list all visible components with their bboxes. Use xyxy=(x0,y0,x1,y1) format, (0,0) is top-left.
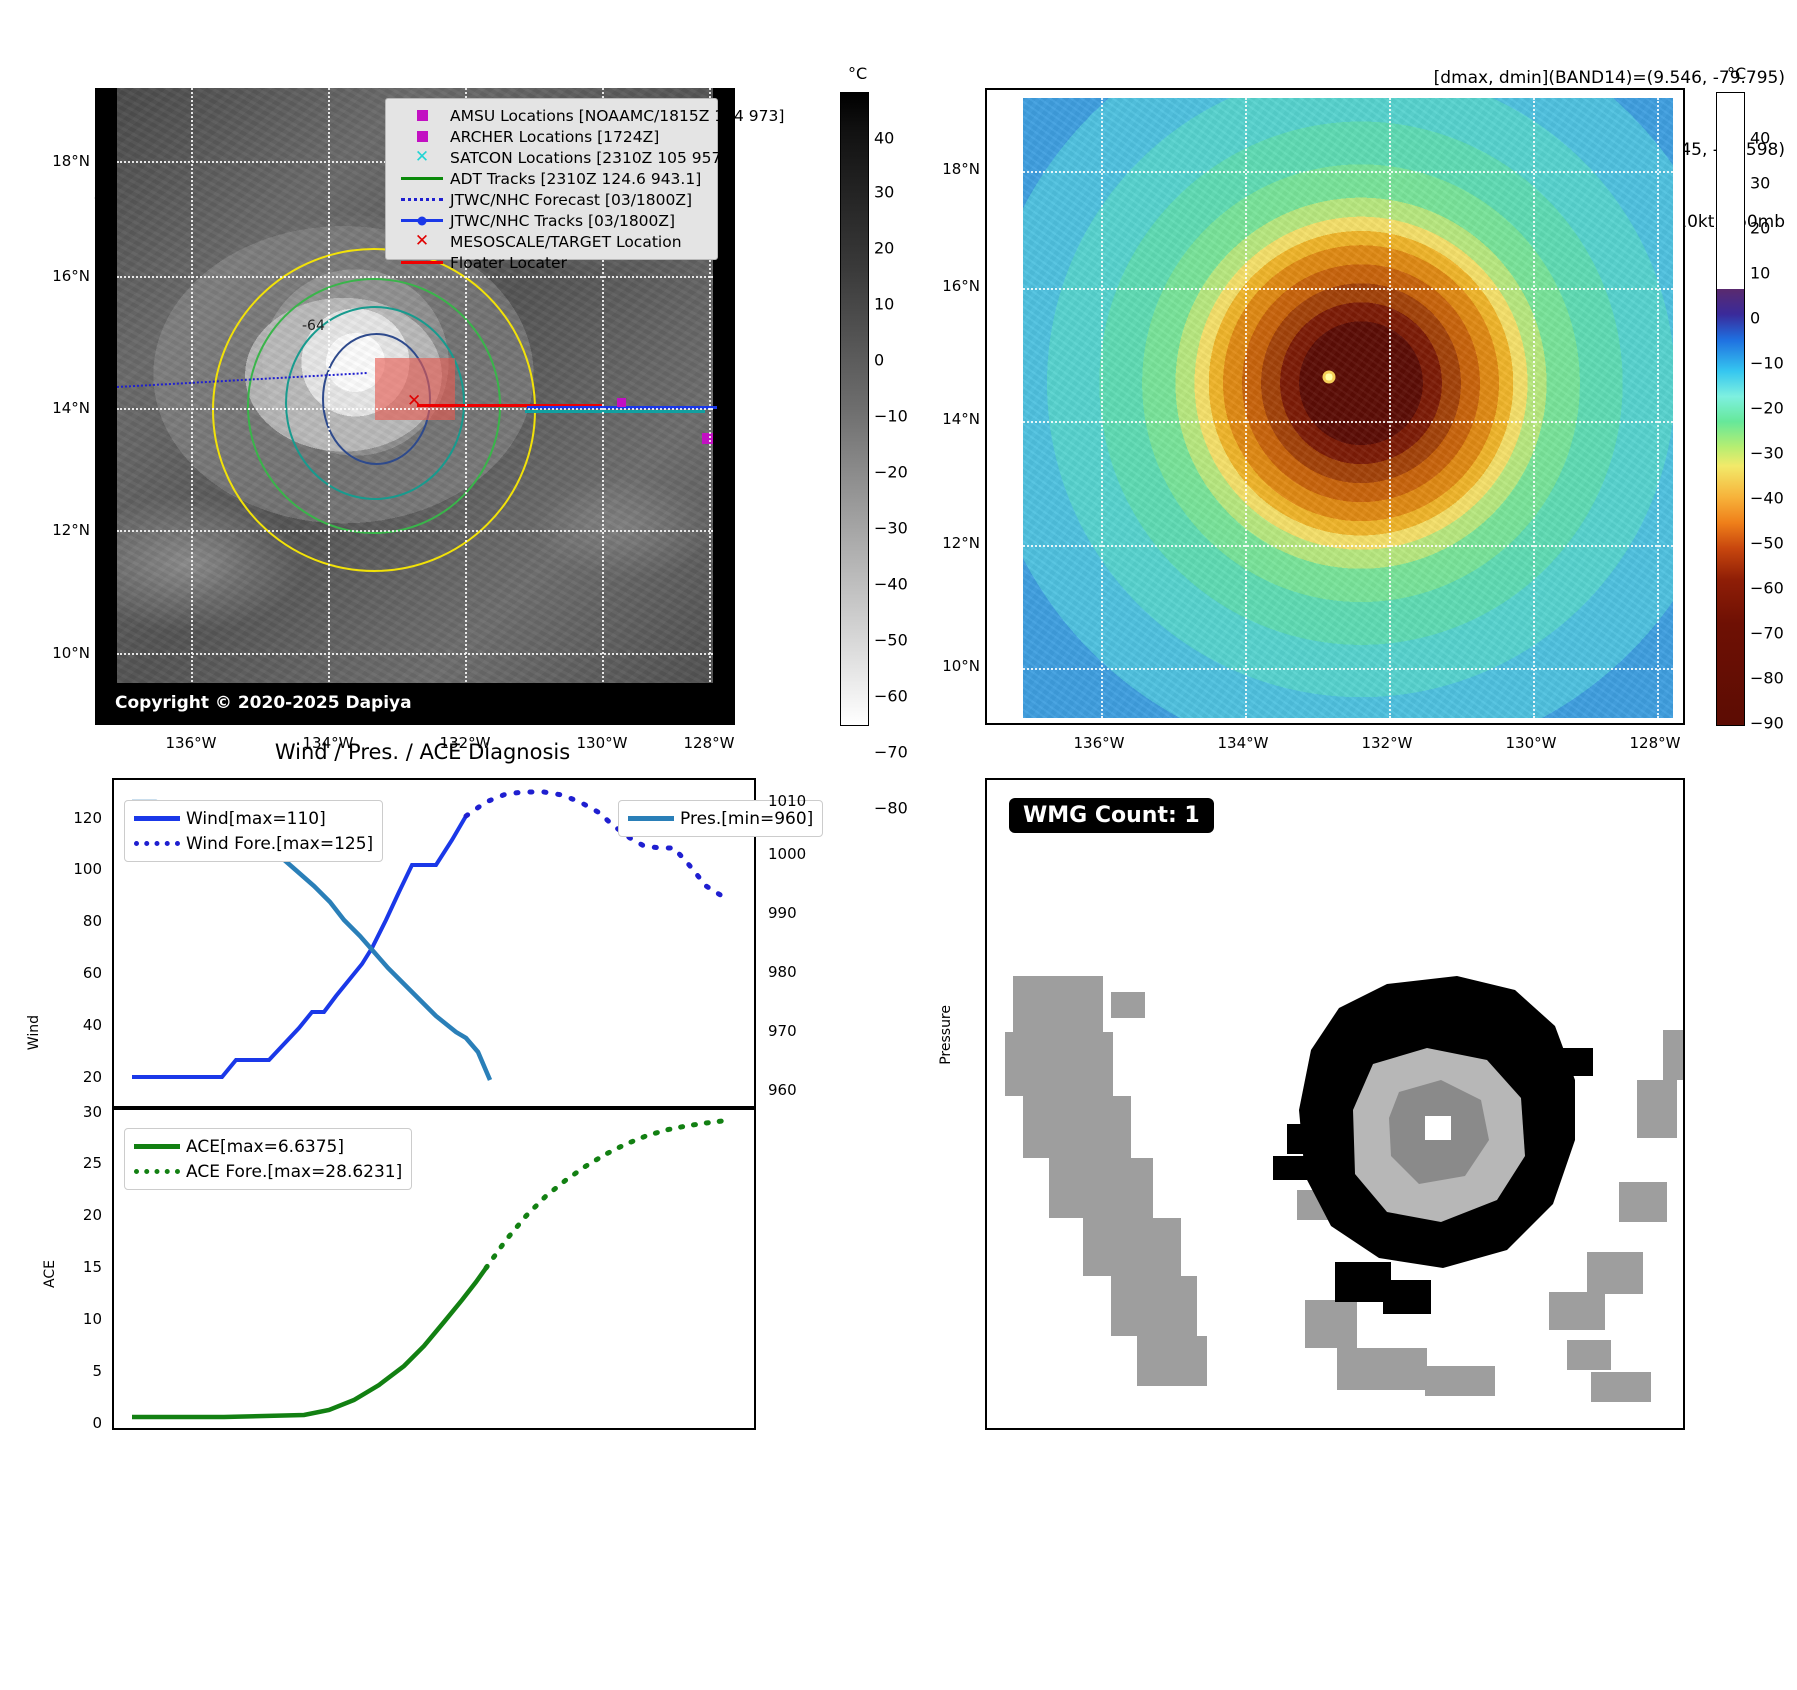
legend-label-ace-forecast: ACE Fore.[max=28.6231] xyxy=(186,1162,402,1182)
archer-square-icon xyxy=(394,126,450,147)
ir-cbar-tick-0: 40 xyxy=(874,129,894,148)
tracks-line-marker-icon xyxy=(394,210,450,231)
awv-grid-lat-10 xyxy=(1023,668,1673,670)
ir-cbar-tick-7: −30 xyxy=(874,519,908,538)
awv-cbar-tick-2: 20 xyxy=(1750,219,1770,238)
wind-chart-legend[interactable]: Wind[max=110] Wind Fore.[max=125] xyxy=(124,800,383,862)
legend-item-ace-forecast[interactable]: ACE Fore.[max=28.6231] xyxy=(134,1159,402,1184)
legend-item-mesoscale[interactable]: ✕ MESOSCALE/TARGET Location xyxy=(394,231,709,252)
awv-colorbar-unit: °C xyxy=(1727,64,1746,83)
awv-lon-tick-2: 132°W xyxy=(1362,734,1413,752)
ir-lat-tick-0: 18°N xyxy=(35,152,90,170)
pressure-y-tick-4: 970 xyxy=(768,1022,797,1040)
ace-forecast-dotted-icon xyxy=(134,1169,186,1174)
grid-lat-14 xyxy=(117,408,713,410)
adt-track-line xyxy=(525,410,705,413)
ir-cbar-tick-11: −70 xyxy=(874,743,908,762)
ace-y-tick-0: 30 xyxy=(52,1103,102,1121)
legend-label-mesoscale: MESOSCALE/TARGET Location xyxy=(450,233,682,251)
legend-item-satcon[interactable]: ✕ SATCON Locations [2310Z 105 957] xyxy=(394,147,709,168)
awv-cbar-tick-11: −70 xyxy=(1750,624,1784,643)
legend-label-ace: ACE[max=6.6375] xyxy=(186,1137,344,1157)
awv-cbar-tick-6: −20 xyxy=(1750,399,1784,418)
legend-item-floater[interactable]: Floater Locater xyxy=(394,252,709,273)
legend-item-adt[interactable]: ADT Tracks [2310Z 124.6 943.1] xyxy=(394,168,709,189)
contour-label--64: -64 xyxy=(302,318,325,334)
amsu-marker xyxy=(702,433,713,444)
ir-lat-tick-1: 16°N xyxy=(35,267,90,285)
ace-forecast-line xyxy=(486,1121,722,1268)
pressure-y-tick-5: 960 xyxy=(768,1081,797,1099)
pressure-axis-label: Pressure xyxy=(938,1005,954,1065)
legend-item-amsu[interactable]: AMSU Locations [NOAAMC/1815Z 104 973] xyxy=(394,105,709,126)
ir-cbar-tick-4: 0 xyxy=(874,351,884,370)
ir-cbar-tick-8: −40 xyxy=(874,575,908,594)
legend-label-adt: ADT Tracks [2310Z 124.6 943.1] xyxy=(450,170,701,188)
awv-grid-lon-130 xyxy=(1533,98,1535,718)
adt-line-icon xyxy=(394,168,450,189)
wind-line-icon xyxy=(134,816,186,821)
awv-lat-tick-2: 14°N xyxy=(925,410,980,428)
awv-lat-tick-4: 10°N xyxy=(925,657,980,675)
ir-cbar-tick-10: −60 xyxy=(874,687,908,706)
ir-cbar-tick-1: 30 xyxy=(874,183,894,202)
wind-forecast-dotted-icon xyxy=(134,841,186,846)
awv-cbar-tick-5: −10 xyxy=(1750,354,1784,373)
grid-lon-134 xyxy=(328,88,330,698)
legend-label-satcon: SATCON Locations [2310Z 105 957] xyxy=(450,149,727,167)
ir-colorbar xyxy=(840,92,869,726)
ace-observed-line xyxy=(132,1268,486,1417)
wmg-cluster-map xyxy=(987,780,1683,1428)
legend-item-archer[interactable]: ARCHER Locations [1724Z] xyxy=(394,126,709,147)
dashboard-root: GOES-18 BAND14-DIAS MESOSCALE Time: 2025… xyxy=(0,0,1797,1690)
legend-item-wind-forecast[interactable]: Wind Fore.[max=125] xyxy=(134,831,373,856)
amsu-square-icon xyxy=(394,105,450,126)
ace-y-tick-6: 0 xyxy=(52,1414,102,1432)
wind-axis-label: Wind xyxy=(26,1015,42,1050)
awv-cbar-tick-13: −90 xyxy=(1750,714,1784,733)
wind-y-tick-2: 80 xyxy=(52,912,102,930)
ace-chart-legend[interactable]: ACE[max=6.6375] ACE Fore.[max=28.6231] xyxy=(124,1128,412,1190)
awv-cbar-tick-4: 0 xyxy=(1750,309,1760,328)
awv-lon-tick-0: 136°W xyxy=(1074,734,1125,752)
wind-y-tick-1: 100 xyxy=(52,860,102,878)
legend-item-ace[interactable]: ACE[max=6.6375] xyxy=(134,1134,402,1159)
awv-cloud-texture xyxy=(1023,98,1673,718)
awv-grid-lon-128 xyxy=(1657,98,1659,718)
awv-colorbar xyxy=(1716,92,1745,726)
ir-map-legend[interactable]: AMSU Locations [NOAAMC/1815Z 104 973] AR… xyxy=(385,98,718,260)
storm-eye-marker xyxy=(1322,371,1335,384)
ir-lat-tick-4: 10°N xyxy=(35,644,90,662)
awv-lon-tick-3: 130°W xyxy=(1506,734,1557,752)
wmg-cloud-cluster-panel[interactable]: WMG Count: 1 xyxy=(985,778,1685,1430)
copyright-notice: Copyright © 2020-2025 Dapiya xyxy=(107,691,420,715)
pressure-y-tick-0: 1010 xyxy=(768,792,806,810)
ace-y-tick-2: 20 xyxy=(52,1206,102,1224)
legend-label-archer: ARCHER Locations [1724Z] xyxy=(450,128,659,146)
pressure-y-tick-3: 980 xyxy=(768,963,797,981)
grid-lat-12 xyxy=(117,530,713,532)
ir-cbar-tick-5: −10 xyxy=(874,407,908,426)
pressure-y-tick-1: 1000 xyxy=(768,845,806,863)
ir-lat-tick-3: 12°N xyxy=(35,521,90,539)
ir-cbar-tick-3: 10 xyxy=(874,295,894,314)
awv-cbar-tick-10: −60 xyxy=(1750,579,1784,598)
awv-lat-tick-3: 12°N xyxy=(925,534,980,552)
floater-line-icon xyxy=(394,252,450,273)
grid-lon-136 xyxy=(191,88,193,698)
legend-label-wind-forecast: Wind Fore.[max=125] xyxy=(186,834,373,854)
awv-lon-tick-4: 128°W xyxy=(1630,734,1681,752)
wind-y-tick-5: 20 xyxy=(52,1068,102,1086)
awv-grid-lat-18 xyxy=(1023,171,1673,173)
awv-cbar-tick-1: 30 xyxy=(1750,174,1770,193)
ace-line-icon xyxy=(134,1144,186,1149)
wmg-eye-cell xyxy=(1425,1116,1451,1140)
wmg-count-badge: WMG Count: 1 xyxy=(1009,798,1214,833)
ir-cbar-tick-12: −80 xyxy=(874,799,908,818)
awv-cbar-tick-3: 10 xyxy=(1750,264,1770,283)
ir-cbar-tick-6: −20 xyxy=(874,463,908,482)
ace-y-tick-4: 10 xyxy=(52,1310,102,1328)
awv-grid-lat-12 xyxy=(1023,545,1673,547)
pressure-y-tick-2: 990 xyxy=(768,904,797,922)
ir-cbar-tick-2: 20 xyxy=(874,239,894,258)
awv-cbar-tick-8: −40 xyxy=(1750,489,1784,508)
awv-cbar-tick-7: −30 xyxy=(1750,444,1784,463)
awv-cbar-tick-0: 40 xyxy=(1750,129,1770,148)
awv-grid-lon-134 xyxy=(1245,98,1247,718)
legend-item-wind[interactable]: Wind[max=110] xyxy=(134,806,373,831)
forecast-dotted-line-icon xyxy=(394,189,450,210)
pressure-line-icon xyxy=(628,816,680,821)
awv-cbar-tick-12: −80 xyxy=(1750,669,1784,688)
legend-label-forecast: JTWC/NHC Forecast [03/1800Z] xyxy=(450,191,692,209)
awv-lat-tick-1: 16°N xyxy=(925,277,980,295)
satcon-x-icon: ✕ xyxy=(394,147,450,168)
awv-grid-lat-14 xyxy=(1023,421,1673,423)
awv-satellite-panel[interactable] xyxy=(985,88,1685,725)
awv-cbar-tick-9: −50 xyxy=(1750,534,1784,553)
ace-y-tick-1: 25 xyxy=(52,1154,102,1172)
ace-y-tick-5: 5 xyxy=(52,1362,102,1380)
awv-satellite-image xyxy=(1023,98,1673,718)
awv-lon-tick-1: 134°W xyxy=(1218,734,1269,752)
legend-item-forecast[interactable]: JTWC/NHC Forecast [03/1800Z] xyxy=(394,189,709,210)
wind-y-tick-3: 60 xyxy=(52,964,102,982)
awv-grid-lon-132 xyxy=(1389,98,1391,718)
awv-lat-tick-0: 18°N xyxy=(925,160,980,178)
wind-y-tick-0: 120 xyxy=(52,809,102,827)
legend-label-floater: Floater Locater xyxy=(450,254,567,272)
awv-grid-lon-136 xyxy=(1101,98,1103,718)
ace-y-tick-3: 15 xyxy=(52,1258,102,1276)
wind-y-tick-4: 40 xyxy=(52,1016,102,1034)
archer-marker xyxy=(617,398,626,407)
ir-lat-tick-2: 14°N xyxy=(35,399,90,417)
legend-label-wind: Wind[max=110] xyxy=(186,809,326,829)
legend-label-pressure: Pres.[min=960] xyxy=(680,809,813,829)
mesoscale-x-icon: ✕ xyxy=(394,231,450,252)
ir-colorbar-unit: °C xyxy=(848,64,867,83)
ir-cbar-tick-9: −50 xyxy=(874,631,908,650)
awv-grid-lat-16 xyxy=(1023,288,1673,290)
grid-lat-16 xyxy=(117,276,713,278)
grid-lat-10 xyxy=(117,653,713,655)
legend-item-tracks[interactable]: JTWC/NHC Tracks [03/1800Z] xyxy=(394,210,709,231)
legend-label-amsu: AMSU Locations [NOAAMC/1815Z 104 973] xyxy=(450,107,784,125)
wind-chart-title: Wind / Pres. / ACE Diagnosis xyxy=(95,740,750,764)
legend-label-tracks: JTWC/NHC Tracks [03/1800Z] xyxy=(450,212,675,230)
